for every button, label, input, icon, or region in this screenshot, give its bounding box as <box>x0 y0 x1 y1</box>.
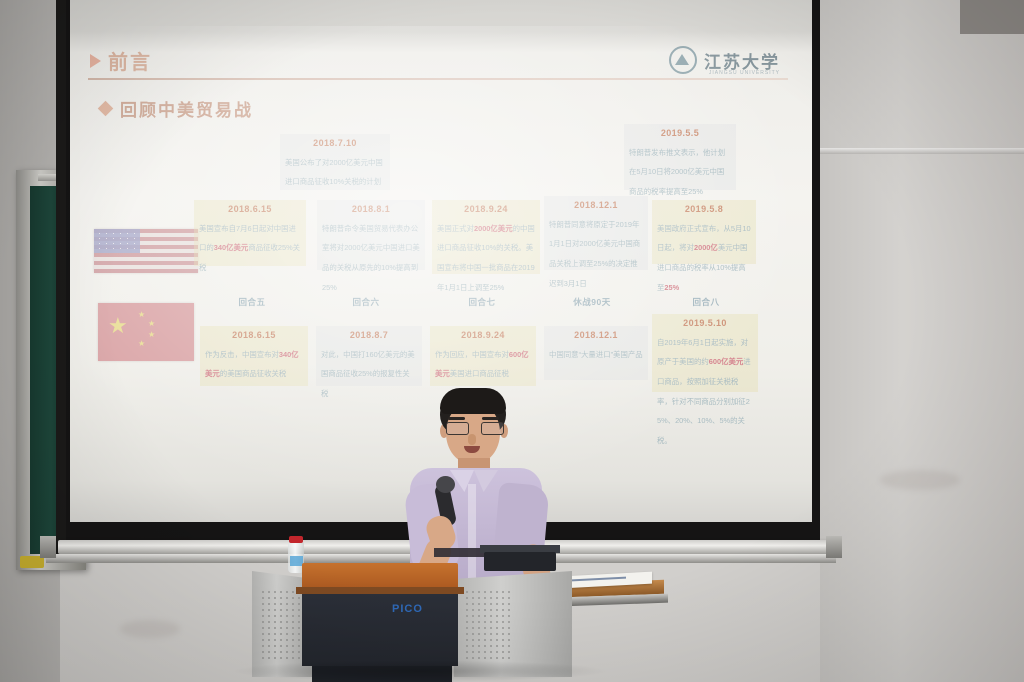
speaker-grille-right <box>464 589 510 663</box>
round-label: 回合七 <box>442 296 522 308</box>
china-flag-small-star: ★ <box>148 331 155 339</box>
ceiling-corner <box>960 0 1024 34</box>
timeline-card-us: 2018.9.24 美国正式对2000亿美元的中国进口商品征收10%的关税。美国… <box>432 200 540 274</box>
timeline-card-china: 2018.6.15 作为反击，中国宣布对340亿美元的美国商品征收关税 <box>200 326 308 386</box>
china-flag-small-star: ★ <box>138 340 145 348</box>
timeline-card-us: 2019.5.8 美国政府正式宣布，从5月10日起，将对2000亿美元中国进口商… <box>652 200 756 264</box>
event-date: 2018.12.1 <box>549 200 643 211</box>
triangle-bullet-icon <box>90 54 101 68</box>
event-highlight: 2000亿 <box>694 243 718 252</box>
event-text: 美国政府正式宣布，从5月10日起，将对2000亿美元中国进口商品的税率从10%提… <box>657 224 751 292</box>
event-highlight: 600亿美元 <box>709 357 744 366</box>
microphone-head <box>436 476 455 493</box>
event-date: 2019.5.10 <box>657 318 753 329</box>
screen-endcap-left <box>40 536 56 558</box>
event-date: 2018.9.24 <box>437 204 535 215</box>
event-date: 2019.5.5 <box>629 128 731 139</box>
china-flag-small-star: ★ <box>148 320 155 328</box>
event-text: 作为回应，中国宣布对600亿美元美国进口商品征税 <box>435 350 529 379</box>
lectern-brand-logo: PICO <box>392 603 423 615</box>
screen-left-edge <box>56 0 66 560</box>
lens-right <box>481 422 504 435</box>
timeline-card-us: 2019.5.5 特朗普发布推文表示，他计划在5月10日将2000亿美元中国商品… <box>624 124 736 190</box>
event-date: 2018.7.10 <box>285 138 385 149</box>
right-wall <box>820 0 1024 682</box>
floor-shadow <box>230 660 610 682</box>
event-text: 美国宣布自7月6日起对中国进口的340亿美元商品征收25%关税 <box>199 224 300 272</box>
china-flag-small-star: ★ <box>138 311 145 319</box>
event-text: 特朗普命令美国贸易代表办公室将对2000亿美元中国进口美品的关税从原先的10%提… <box>322 224 420 292</box>
eyebrow-left <box>448 417 465 420</box>
us-flag-canton <box>94 229 140 253</box>
event-date: 2018.9.24 <box>435 330 531 341</box>
screen-endcap-right <box>826 536 842 558</box>
united-states-flag <box>94 229 198 273</box>
timeline-card-us: 2018.7.10 美国公布了对2000亿美元中国进口商品征收10%关税的计划 <box>280 134 390 190</box>
event-text: 自2019年6月1日起实施，对原产于美国的约600亿美元进口商品，按照加征关税税… <box>657 338 751 445</box>
university-emblem-icon <box>669 46 697 74</box>
timeline-card-china: 2018.12.1 中国同意“大量进口”美国产品 <box>544 326 648 380</box>
round-label: 休战90天 <box>552 296 632 308</box>
event-date: 2018.8.7 <box>321 330 417 341</box>
lectern-front-panel: PICO <box>302 594 458 666</box>
china-flag: ★ ★ ★ ★ ★ <box>98 303 194 361</box>
university-name: 江苏大学 <box>704 48 780 73</box>
event-highlight: 2000亿美元 <box>474 224 513 233</box>
event-highlight: 340亿美元 <box>214 243 249 252</box>
speaker-grille-left <box>260 589 306 663</box>
event-date: 2018.6.15 <box>205 330 303 341</box>
slide-header-text: 前言 <box>108 46 152 75</box>
round-label: 回合八 <box>666 296 746 308</box>
event-date: 2018.12.1 <box>549 330 643 341</box>
trade-war-timeline-grid: 2018.7.10 美国公布了对2000亿美元中国进口商品征收10%关税的计划 … <box>204 118 804 418</box>
bottle-cap <box>289 536 303 543</box>
wall-smudge <box>880 470 960 490</box>
nose <box>468 434 476 445</box>
lens-left <box>446 422 469 435</box>
event-date: 2018.8.1 <box>322 204 420 215</box>
event-text: 中国同意“大量进口”美国产品 <box>549 350 643 359</box>
timeline-card-china: 2018.8.7 对此，中国打160亿美元的美国商品征收25%的报复性关税 <box>316 326 422 386</box>
timeline-card-us: 2018.12.1 特朗普同意将原定于2019年1月1日对2000亿美元中国商品… <box>544 196 648 270</box>
event-highlight: 25% <box>664 283 679 292</box>
lectern-wood-edge <box>296 587 464 594</box>
event-date: 2018.6.15 <box>199 204 301 215</box>
round-label: 回合六 <box>326 296 406 308</box>
round-label: 回合五 <box>212 296 292 308</box>
event-text: 美国公布了对2000亿美元中国进口商品征收10%关税的计划 <box>285 158 383 187</box>
event-text: 美国正式对2000亿美元的中国进口商品征收10%的关税。美国宣布将中国一批商品在… <box>437 224 535 292</box>
lecture-hall-photo: 前言 江苏大学 JIANGSU UNIVERSITY 回顾中美贸易战 ★ ★ ★… <box>0 0 1024 682</box>
university-name-english: JIANGSU UNIVERSITY <box>709 70 780 76</box>
timeline-card-china: 2018.9.24 作为回应，中国宣布对600亿美元美国进口商品征税 <box>430 326 536 386</box>
wall-seam <box>820 148 1024 154</box>
hair-top <box>440 388 506 414</box>
timeline-card-china: 2019.5.10 自2019年6月1日起实施，对原产于美国的约600亿美元进口… <box>652 314 758 392</box>
event-text: 特朗普同意将原定于2019年1月1日对2000亿美元中国商品关税上调至25%的决… <box>549 220 640 288</box>
header-divider <box>88 78 788 80</box>
eyebrow-right <box>482 417 499 420</box>
timeline-card-us: 2018.8.1 特朗普命令美国贸易代表办公室将对2000亿美元中国进口美品的关… <box>317 200 425 270</box>
timeline-card-us: 2018.6.15 美国宣布自7月6日起对中国进口的340亿美元商品征收25%关… <box>194 200 306 266</box>
event-text: 作为反击，中国宣布对340亿美元的美国商品征收关税 <box>205 350 299 379</box>
slide-header: 前言 <box>90 46 152 75</box>
china-flag-big-star: ★ <box>108 315 128 337</box>
event-text: 特朗普发布推文表示，他计划在5月10日将2000亿美元中国商品的税率提高至25% <box>629 148 725 196</box>
wall-smudge <box>120 620 180 638</box>
event-date: 2019.5.8 <box>657 204 751 215</box>
diamond-bullet-icon <box>98 101 114 117</box>
eyeglasses-icon <box>446 422 502 434</box>
